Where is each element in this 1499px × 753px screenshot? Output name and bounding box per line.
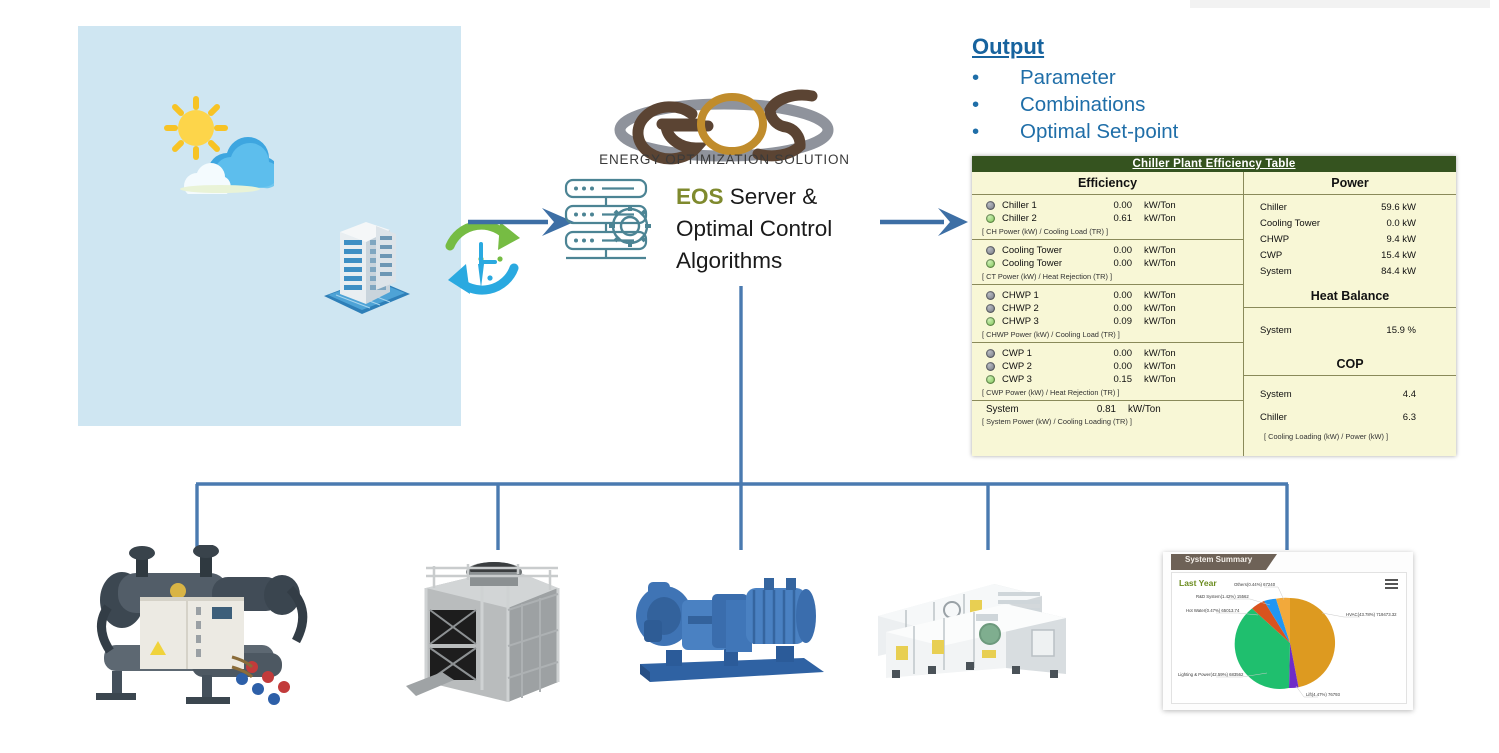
status-dot-off-icon <box>986 246 995 255</box>
status-dot-off-icon <box>986 349 995 358</box>
row-unit: kW/Ton <box>1144 200 1176 211</box>
table-row: Chiller 2 0.61 kW/Ton <box>972 212 1243 225</box>
system-summary-widget[interactable]: System Summary Last Year <box>1163 552 1413 710</box>
bullet-icon: • <box>972 118 979 145</box>
row-value: 15.9 % <box>1346 325 1416 336</box>
row-label: Cooling Tower <box>1002 258 1094 269</box>
row-label: CHWP 2 <box>1002 303 1094 314</box>
row-value: 0.00 <box>1094 348 1132 359</box>
row-value: 59.6 kW <box>1346 202 1416 213</box>
row-label: Chiller 2 <box>1002 213 1094 224</box>
row-label: Cooling Tower <box>1002 245 1094 256</box>
row-label: CWP 3 <box>1002 374 1094 385</box>
air-handling-unit-image <box>866 570 1081 695</box>
system-note: [ System Power (kW) / Cooling Loading (T… <box>972 415 1243 427</box>
heat-balance-rows: System 15.9 % <box>1244 308 1456 352</box>
eos-brand-text: EOS <box>676 184 724 209</box>
row-value: 9.4 kW <box>1346 234 1416 245</box>
output-item-label: Optimal Set-point <box>1020 120 1178 143</box>
row-value: 0.0 kW <box>1346 218 1416 229</box>
bullet-icon: • <box>972 64 979 91</box>
row-value: 0.00 <box>1094 200 1132 211</box>
row-unit: kW/Ton <box>1128 404 1161 415</box>
row-label: Cooling Tower <box>1260 218 1346 229</box>
efficiency-group-cooling-towers: Cooling Tower 0.00 kW/Ton Cooling Tower … <box>972 240 1243 285</box>
chiller-plant-efficiency-table: Chiller Plant Efficiency Table Efficienc… <box>972 156 1456 456</box>
row-label: CHWP <box>1260 234 1346 245</box>
row-label: System <box>1260 325 1346 336</box>
status-dot-off-icon <box>986 304 995 313</box>
group-note: [ CHWP Power (kW) / Cooling Load (TR) ] <box>972 328 1243 340</box>
status-dot-off-icon <box>986 201 995 210</box>
chilled-water-pump-image <box>626 566 831 696</box>
eos-server-title: EOS Server & Optimal Control Algorithms <box>676 181 891 277</box>
table-row: Chiller 59.6 kW <box>1244 199 1456 215</box>
row-value: 0.00 <box>1094 245 1132 256</box>
efficiency-group-cwp: CWP 1 0.00 kW/Ton CWP 2 0.00 kW/Ton CWP … <box>972 343 1243 401</box>
system-summary-tab-label: System Summary <box>1185 555 1252 564</box>
table-row: CWP 2 0.00 kW/Ton <box>972 360 1243 373</box>
row-label: CHWP 3 <box>1002 316 1094 327</box>
arrow-server-to-output <box>878 200 970 244</box>
output-title: Output <box>972 34 1044 60</box>
row-value: 0.61 <box>1094 213 1132 224</box>
table-row: CHWP 1 0.00 kW/Ton <box>972 289 1243 302</box>
eos-logo-subtitle: ENERGY OPTIMIZATION SOLUTION <box>592 152 857 167</box>
efficiency-group-chillers: Chiller 1 0.00 kW/Ton Chiller 2 0.61 kW/… <box>972 195 1243 240</box>
status-dot-on-icon <box>986 317 995 326</box>
row-unit: kW/Ton <box>1144 348 1176 359</box>
pie-label-hot-water: Hot Water(0.47%) 65013.74 <box>1186 608 1240 613</box>
cop-header: COP <box>1244 352 1456 376</box>
row-label: CWP <box>1260 250 1346 261</box>
pie-label-hvac: HVAC(43.78%) 719473.32 <box>1346 612 1397 617</box>
output-list: • Parameter • Combinations • Optimal Set… <box>972 64 1272 145</box>
efficiency-group-chwp: CHWP 1 0.00 kW/Ton CHWP 2 0.00 kW/Ton CH… <box>972 285 1243 343</box>
row-unit: kW/Ton <box>1144 303 1176 314</box>
arrow-input-to-server <box>466 200 576 244</box>
power-column: Power Chiller 59.6 kW Cooling Tower 0.0 … <box>1244 172 1456 456</box>
row-value: 0.00 <box>1094 258 1132 269</box>
row-label: System <box>986 404 1078 415</box>
power-rows: Chiller 59.6 kW Cooling Tower 0.0 kW CHW… <box>1244 195 1456 284</box>
eos-server-line3: Algorithms <box>676 248 782 273</box>
table-row: Chiller 1 0.00 kW/Ton <box>972 199 1243 212</box>
efficiency-system-row-block: System 0.81 kW/Ton [ System Power (kW) /… <box>972 401 1243 427</box>
table-row: Cooling Tower 0.0 kW <box>1244 215 1456 231</box>
group-note: [ CT Power (kW) / Heat Rejection (TR) ] <box>972 270 1243 282</box>
pie-slice-hvac <box>1290 598 1335 687</box>
table-row: CWP 15.4 kW <box>1244 248 1456 264</box>
power-column-header: Power <box>1244 172 1456 195</box>
row-value: 0.00 <box>1094 290 1132 301</box>
row-unit: kW/Ton <box>1144 213 1176 224</box>
row-label: CWP 2 <box>1002 361 1094 372</box>
row-label: CWP 1 <box>1002 348 1094 359</box>
group-note: [ CWP Power (kW) / Heat Rejection (TR) ] <box>972 386 1243 398</box>
output-item-label: Parameter <box>1020 66 1116 89</box>
row-label: Chiller 1 <box>1002 200 1094 211</box>
cop-note: [ Cooling Loading (kW) / Power (kW) ] <box>1244 426 1456 441</box>
row-label: Chiller <box>1260 412 1346 423</box>
table-row: CWP 1 0.00 kW/Ton <box>972 347 1243 360</box>
output-section: Output • Parameter • Combinations • Opti… <box>972 34 1272 145</box>
row-unit: kW/Ton <box>1144 316 1176 327</box>
status-dot-on-icon <box>986 214 995 223</box>
row-unit: kW/Ton <box>1144 361 1176 372</box>
row-value: 0.09 <box>1094 316 1132 327</box>
table-row: CHWP 9.4 kW <box>1244 231 1456 247</box>
pie-label-lift: Lift(4.47%) 76793 <box>1306 692 1341 697</box>
status-dot-on-icon <box>986 259 995 268</box>
server-gear-icon <box>562 176 660 264</box>
pie-label-others: Others(0.44%) 67240 <box>1234 582 1276 587</box>
table-row: Cooling Tower 0.00 kW/Ton <box>972 257 1243 270</box>
table-row: CHWP 3 0.09 kW/Ton <box>972 315 1243 328</box>
sun-cloud-weather-icon <box>162 94 274 194</box>
table-row: System 0.81 kW/Ton <box>972 401 1243 415</box>
water-cooled-chiller-image <box>82 545 342 713</box>
table-row: System 84.4 kW <box>1244 264 1456 280</box>
heat-balance-header: Heat Balance <box>1244 284 1456 308</box>
building-icon <box>310 210 420 320</box>
system-summary-panel: Last Year HVAC(43.78%) 719473 <box>1171 572 1407 704</box>
row-value: 15.4 kW <box>1346 250 1416 261</box>
pie-label-lighting-power: Lighting & Power(42.59%) 683562 <box>1178 672 1244 677</box>
table-row: Chiller 6.3 <box>1244 410 1456 426</box>
row-label: System <box>1260 266 1346 277</box>
row-value: 0.81 <box>1078 404 1116 415</box>
table-row: Cooling Tower 0.00 kW/Ton <box>972 244 1243 257</box>
eos-server-rest: Server & <box>724 184 818 209</box>
row-value: 84.4 kW <box>1346 266 1416 277</box>
row-value: 0.15 <box>1094 374 1132 385</box>
row-unit: kW/Ton <box>1144 374 1176 385</box>
input-parameters-panel <box>78 26 461 426</box>
row-label: Chiller <box>1260 202 1346 213</box>
row-value: 6.3 <box>1346 412 1416 423</box>
cop-rows: System 4.4 Chiller 6.3 [ Cooling Loading… <box>1244 376 1456 441</box>
efficiency-column-header: Efficiency <box>972 172 1243 195</box>
output-item-label: Combinations <box>1020 93 1145 116</box>
table-row: System 4.4 <box>1244 386 1456 410</box>
row-value: 0.00 <box>1094 361 1132 372</box>
table-row: CHWP 2 0.00 kW/Ton <box>972 302 1243 315</box>
output-list-item: • Optimal Set-point <box>972 118 1272 145</box>
eos-server-line2: Optimal Control <box>676 216 832 241</box>
bullet-icon: • <box>972 91 979 118</box>
row-label: System <box>1260 389 1346 400</box>
table-row: System 15.9 % <box>1244 322 1456 338</box>
row-unit: kW/Ton <box>1144 258 1176 269</box>
energy-breakdown-pie-chart: HVAC(43.78%) 719473.32 Lighting & Power(… <box>1172 573 1406 703</box>
row-label: CHWP 1 <box>1002 290 1094 301</box>
cooling-tower-image <box>398 550 573 710</box>
output-list-item: • Parameter <box>972 64 1272 91</box>
table-row: CWP 3 0.15 kW/Ton <box>972 373 1243 386</box>
pie-slices <box>1235 598 1335 689</box>
output-list-item: • Combinations <box>972 91 1272 118</box>
row-unit: kW/Ton <box>1144 290 1176 301</box>
status-dot-off-icon <box>986 291 995 300</box>
row-value: 0.00 <box>1094 303 1132 314</box>
status-dot-on-icon <box>986 375 995 384</box>
efficiency-column: Efficiency Chiller 1 0.00 kW/Ton Chiller… <box>972 172 1244 456</box>
status-dot-off-icon <box>986 362 995 371</box>
group-note: [ CH Power (kW) / Cooling Load (TR) ] <box>972 225 1243 237</box>
row-value: 4.4 <box>1346 389 1416 400</box>
pie-label-rd-system: R&D System(1.42%) 15562 <box>1196 594 1249 599</box>
table-title: Chiller Plant Efficiency Table <box>972 156 1456 172</box>
row-unit: kW/Ton <box>1144 245 1176 256</box>
top-edge-artifact <box>1190 0 1490 8</box>
